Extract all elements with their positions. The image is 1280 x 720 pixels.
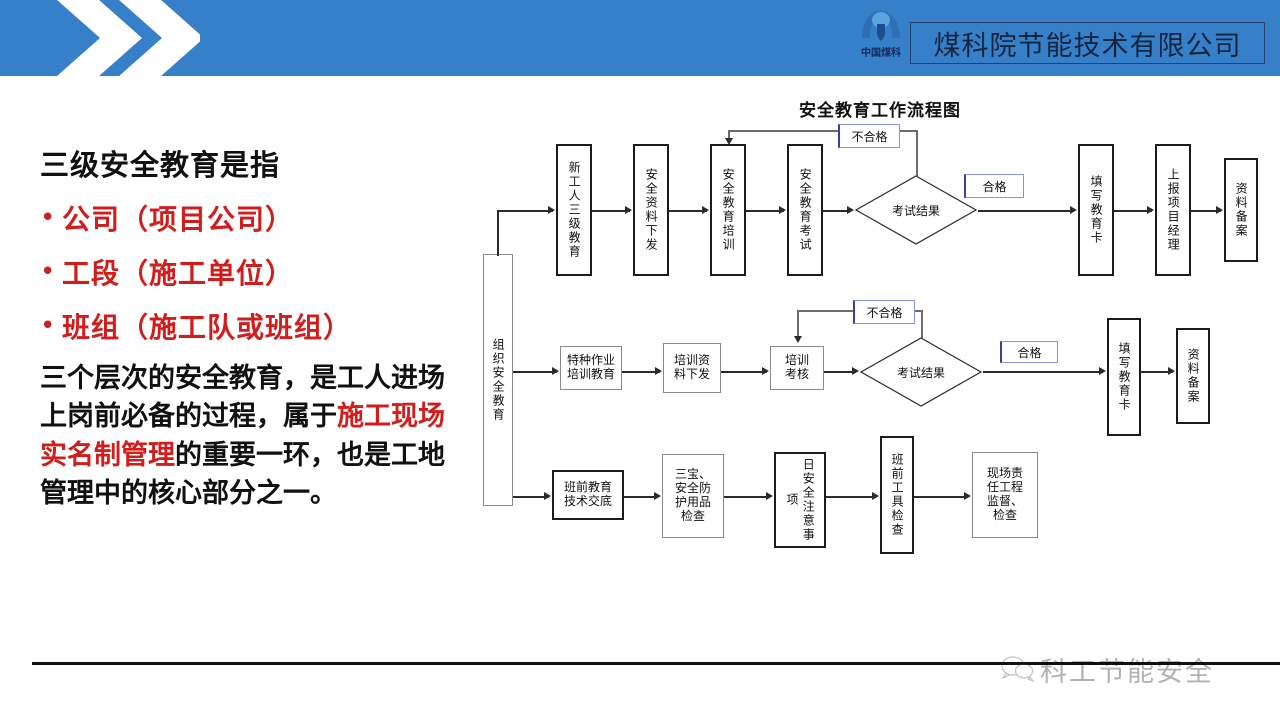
flow-node-spine: 组织安全教育 bbox=[483, 254, 513, 506]
arrow-head bbox=[625, 206, 632, 214]
flow-node-r2-0: 特种作业培训教育 bbox=[560, 346, 622, 390]
arrow-head bbox=[779, 206, 786, 214]
flow-tag-label: 合格 bbox=[1017, 344, 1041, 361]
arrow-head bbox=[548, 206, 555, 214]
double-chevron-right-icon bbox=[30, 0, 200, 76]
flow-node-r3-2: 日安全注意事项 bbox=[774, 452, 826, 548]
flow-node-label: 资料备案 bbox=[1233, 182, 1249, 238]
connector-r1-pass bbox=[978, 210, 1074, 212]
connector-r2-fail-up bbox=[921, 310, 923, 338]
connector-spine-up bbox=[497, 210, 499, 256]
flow-node-r3-0: 班前教育技术交底 bbox=[552, 470, 624, 520]
arrow-head bbox=[964, 492, 971, 500]
arrow-head bbox=[847, 206, 854, 214]
connector bbox=[724, 496, 770, 498]
arrow-head bbox=[702, 206, 709, 214]
flow-node-label: 新工人三级教育 bbox=[566, 161, 582, 259]
arrow-head bbox=[654, 492, 661, 500]
flow-node-label: 日安全注意事项 bbox=[784, 454, 816, 546]
flow-node-r2-after-0: 填写教育卡 bbox=[1107, 318, 1141, 436]
flow-node-r3-1: 三宝、安全防护用品检查 bbox=[662, 454, 724, 538]
flow-node-r2-1: 培训资料下发 bbox=[663, 343, 721, 393]
connector-r2-start bbox=[513, 371, 557, 373]
connector bbox=[826, 496, 876, 498]
flow-node-label: 填写教育卡 bbox=[1088, 175, 1104, 245]
flowchart-title: 安全教育工作流程图 bbox=[770, 96, 990, 121]
flow-node-r1-1: 安全资料下发 bbox=[633, 144, 669, 276]
page-header: 中国煤科 煤科院节能技术有限公司 bbox=[0, 0, 1280, 76]
arrow-head bbox=[1070, 206, 1077, 214]
bullet-dot-icon: • bbox=[40, 313, 62, 339]
bullet-list: • 公司（项目公司） • 工段（施工单位） • 班组（施工队或班组） bbox=[40, 198, 470, 346]
flow-tag-r1-fail: 不合格 bbox=[838, 124, 900, 148]
bullet-label: 公司（项目公司） bbox=[62, 198, 294, 238]
arrow-head bbox=[544, 492, 551, 500]
connector-r1-fail-up bbox=[916, 130, 918, 176]
bullet-dot-icon: • bbox=[40, 259, 62, 285]
arrow-head bbox=[725, 138, 733, 145]
left-content: 三级安全教育是指 • 公司（项目公司） • 工段（施工单位） • 班组（施工队或… bbox=[40, 150, 470, 513]
connector-r1-start bbox=[497, 210, 553, 212]
flow-tag-label: 不合格 bbox=[851, 128, 887, 145]
flow-node-r2-2: 培训考核 bbox=[770, 346, 824, 390]
connector bbox=[914, 496, 968, 498]
body-paragraph: 三个层次的安全教育，是工人进场上岗前必备的过程，属于施工现场实名制管理的重要一环… bbox=[40, 360, 470, 513]
flow-node-label: 班前工具检查 bbox=[889, 453, 905, 537]
arrow-head bbox=[852, 367, 859, 375]
flow-tag-r2-pass: 合格 bbox=[1000, 341, 1058, 363]
flow-node-label: 安全教育培训 bbox=[720, 168, 736, 252]
flow-tag-label: 不合格 bbox=[866, 304, 902, 321]
wechat-watermark: 科工节能安全 bbox=[1000, 648, 1270, 690]
arrow-head bbox=[766, 492, 773, 500]
flow-node-r3-4: 现场责任工程监督、检查 bbox=[972, 452, 1038, 538]
flow-node-label: 上报项目经理 bbox=[1165, 168, 1181, 252]
flow-node-r1-3: 安全教育考试 bbox=[787, 144, 823, 276]
flow-tag-label: 合格 bbox=[982, 178, 1006, 195]
list-item: • 公司（项目公司） bbox=[40, 198, 470, 238]
arrow-head bbox=[1216, 206, 1223, 214]
arrow-head bbox=[655, 367, 662, 375]
flow-decision-label: 考试结果 bbox=[859, 336, 983, 408]
arrow-head bbox=[1168, 367, 1175, 375]
list-item: • 班组（施工队或班组） bbox=[40, 306, 470, 346]
bullet-label: 工段（施工单位） bbox=[62, 252, 294, 292]
connector bbox=[624, 496, 658, 498]
company-name: 煤科院节能技术有限公司 bbox=[934, 24, 1242, 63]
arrow-head bbox=[552, 367, 559, 375]
flow-node-r1-after-1: 上报项目经理 bbox=[1155, 144, 1191, 276]
logo-mark-icon bbox=[858, 8, 904, 48]
flow-node-r1-0: 新工人三级教育 bbox=[556, 144, 592, 276]
watermark-text: 科工节能安全 bbox=[1040, 650, 1214, 689]
flow-node-r3-3: 班前工具检查 bbox=[880, 436, 914, 554]
flow-node-r2-after-1: 资料备案 bbox=[1176, 328, 1210, 424]
flow-node-label: 填写教育卡 bbox=[1116, 342, 1132, 412]
china-coal-logo: 中国煤科 bbox=[850, 8, 912, 70]
flow-node-r1-after-0: 填写教育卡 bbox=[1078, 144, 1114, 276]
arrow-head bbox=[762, 367, 769, 375]
flowchart: 安全教育工作流程图 组织安全教育 新工人三级教育 安全资料下发 安全教育培训 安… bbox=[470, 96, 1270, 566]
connector-r2-fail-down bbox=[797, 310, 799, 338]
flow-node-label: 资料备案 bbox=[1185, 348, 1201, 404]
logo-caption: 中国煤科 bbox=[850, 48, 912, 60]
arrow-head bbox=[872, 492, 879, 500]
flow-node-r1-2: 安全教育培训 bbox=[710, 144, 746, 276]
flow-tag-r1-pass: 合格 bbox=[964, 174, 1024, 198]
company-name-box: 煤科院节能技术有限公司 bbox=[910, 22, 1265, 64]
arrow-head bbox=[1099, 367, 1106, 375]
flow-node-label: 组织安全教育 bbox=[490, 338, 506, 422]
list-item: • 工段（施工单位） bbox=[40, 252, 470, 292]
flow-tag-r2-fail: 不合格 bbox=[853, 300, 915, 324]
connector-r2-pass bbox=[983, 371, 1103, 373]
flow-node-r1-after-2: 资料备案 bbox=[1224, 158, 1258, 262]
connector bbox=[721, 371, 767, 373]
bullet-dot-icon: • bbox=[40, 205, 62, 231]
arrow-head bbox=[1147, 206, 1154, 214]
flow-decision-r1: 考试结果 bbox=[854, 174, 978, 246]
flow-node-label: 安全资料下发 bbox=[643, 168, 659, 252]
arrow-head bbox=[794, 336, 802, 343]
flow-decision-label: 考试结果 bbox=[854, 174, 978, 246]
bullet-label: 班组（施工队或班组） bbox=[62, 306, 352, 346]
wechat-icon bbox=[1000, 655, 1034, 683]
lead-heading: 三级安全教育是指 bbox=[40, 150, 470, 182]
flow-node-label: 安全教育考试 bbox=[797, 168, 813, 252]
flow-decision-r2: 考试结果 bbox=[859, 336, 983, 408]
